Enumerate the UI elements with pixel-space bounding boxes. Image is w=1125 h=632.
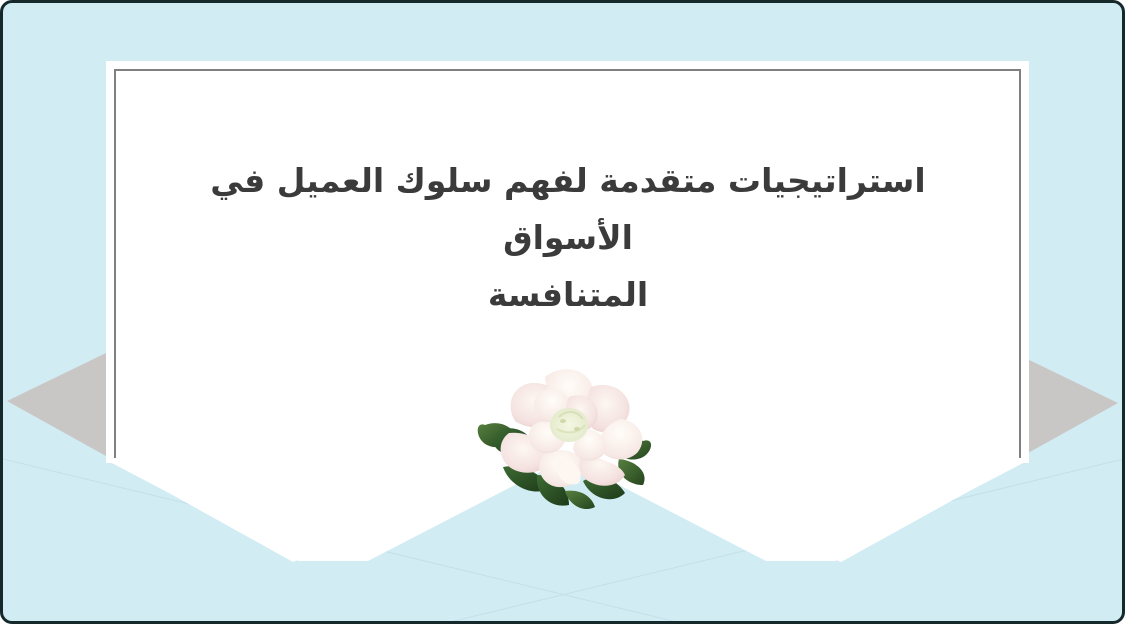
slide-bottom-strip: [0, 624, 1125, 632]
envelope-left-corner-triangle: [7, 353, 106, 456]
slide-title: استراتيجيات متقدمة لفهم سلوك العميل في ا…: [153, 153, 983, 323]
slide-frame: استراتيجيات متقدمة لفهم سلوك العميل في ا…: [0, 0, 1125, 624]
flower-decoration: [473, 363, 658, 513]
title-line-1: استراتيجيات متقدمة لفهم سلوك العميل في ا…: [153, 153, 983, 267]
presentation-slide: استراتيجيات متقدمة لفهم سلوك العميل في ا…: [0, 0, 1125, 632]
envelope-right-corner-triangle: [1019, 355, 1118, 458]
title-line-2: المتنافسة: [153, 267, 983, 324]
